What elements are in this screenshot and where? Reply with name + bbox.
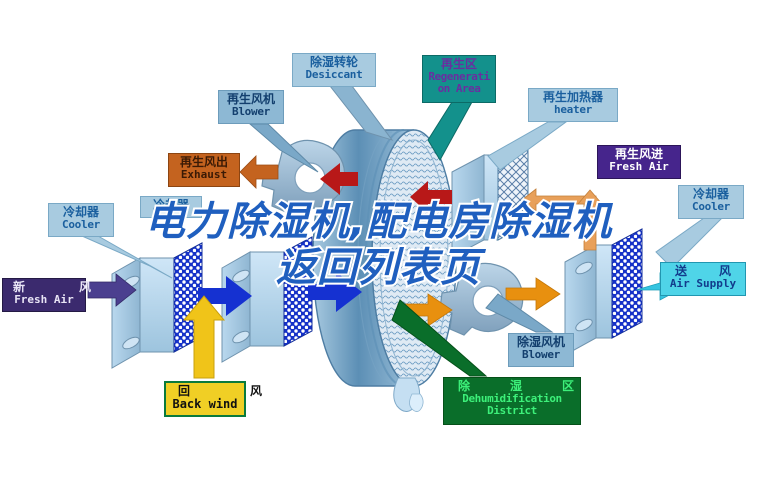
label-cn: 冷却器 (141, 199, 201, 212)
label-dehu-blower: 除湿风机 Blower (508, 333, 574, 367)
label-en: Exhaust (169, 169, 239, 181)
label-cn: 再生风机 (219, 93, 283, 106)
label-cn: 新 风 (3, 281, 85, 294)
label-cooler-left-1: 冷却器 Cooler (48, 203, 114, 237)
label-en: Cooler (49, 219, 113, 231)
label-cn: 冷却器 (679, 188, 743, 201)
label-en: Fresh Air (3, 294, 85, 306)
label-regen-heater: 再生加热器 heater (528, 88, 618, 122)
label-regen-area: 再生区 Regenerati on Area (422, 55, 496, 103)
diagram-canvas: xf (0, 0, 757, 488)
label-en: Fresh Air (598, 161, 680, 173)
label-en: Blower (509, 349, 573, 361)
supply-air-coil-block (565, 229, 642, 355)
label-cn: 回 风 (166, 385, 244, 398)
label-en: Desiccant (293, 69, 375, 81)
label-en: Blower (219, 106, 283, 118)
label-desiccant-rotor: 除湿转轮 Desiccant (292, 53, 376, 87)
label-en: Back wind (166, 398, 244, 411)
label-cn: 再生区 (423, 58, 495, 71)
label-fresh-air-inlet: 新 风 Fresh Air (2, 278, 86, 312)
label-cooler-right: 冷却器 Cooler (678, 185, 744, 219)
label-back-wind: 回 风 Back wind (164, 381, 246, 417)
label-en: Air Supply (661, 278, 745, 290)
label-cn: 再生风出 (169, 156, 239, 169)
label-air-supply: 送 风 Air Supply (660, 262, 746, 296)
label-cn: 除 湿 区 (444, 380, 580, 393)
label-en: Regenerati on Area (423, 71, 495, 95)
label-dehu-district: 除 湿 区 Dehumidification District (443, 377, 581, 425)
label-cn: 送 风 (661, 265, 745, 278)
label-regen-blower: 再生风机 Blower (218, 90, 284, 124)
label-cn: 除湿风机 (509, 336, 573, 349)
label-cooler-left-2: 冷却器 (140, 196, 202, 218)
label-en: heater (529, 104, 617, 116)
cooler-coil-block-1 (112, 243, 202, 368)
label-regen-exhaust: 再生风出 Exhaust (168, 153, 240, 187)
label-en: Cooler (679, 201, 743, 213)
label-cn: 冷却器 (49, 206, 113, 219)
diagram-graphics: xf (0, 0, 757, 488)
label-en: Dehumidification District (444, 393, 580, 417)
label-cn: 除湿转轮 (293, 56, 375, 69)
label-cn: 再生加热器 (529, 91, 617, 104)
label-regen-fresh-air: 再生风进 Fresh Air (597, 145, 681, 179)
label-cn: 再生风进 (598, 148, 680, 161)
